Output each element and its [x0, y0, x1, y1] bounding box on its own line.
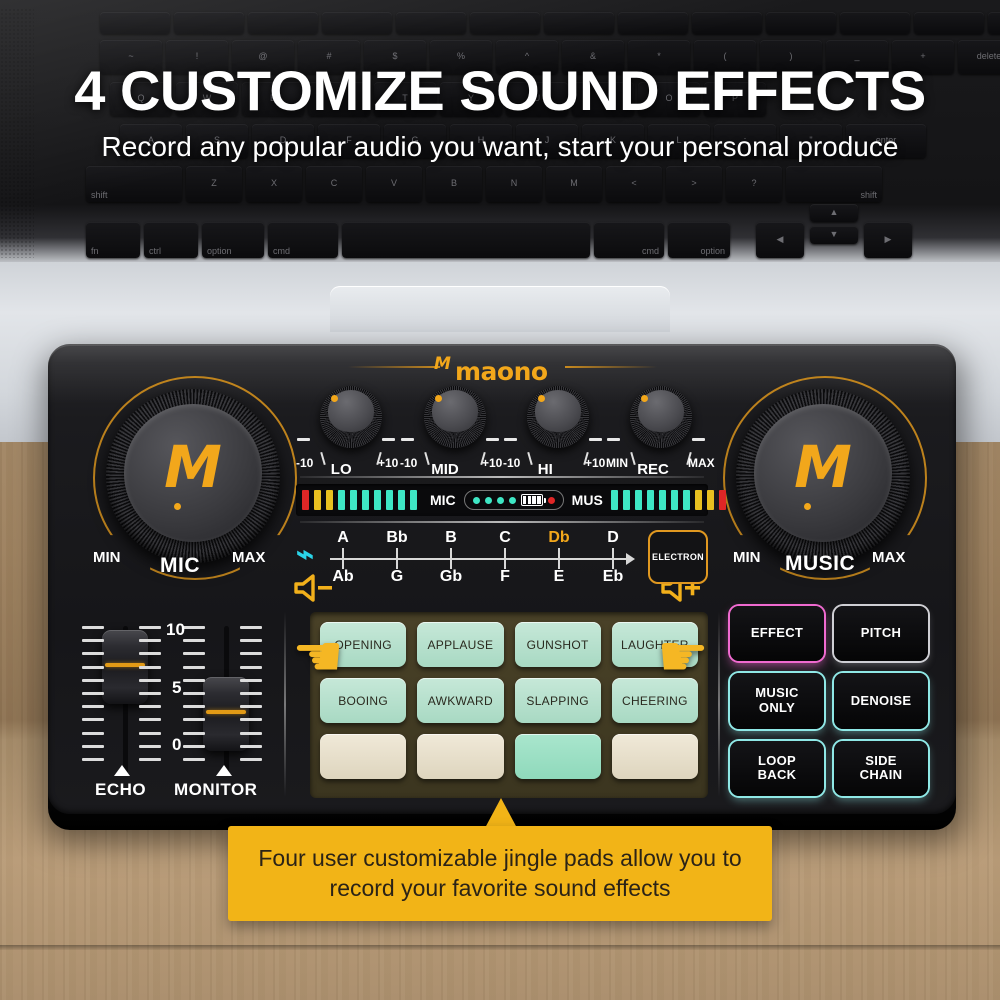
keyboard-key: V — [366, 166, 422, 202]
fader-tick — [139, 705, 161, 708]
caption-pointer-notch — [485, 798, 517, 828]
knob-range-tick — [297, 438, 310, 441]
fader-tick — [139, 639, 161, 642]
vu-segment — [623, 490, 630, 510]
keyboard-row: ▼ — [810, 226, 858, 244]
knob-range-tick — [692, 438, 705, 441]
function-button-side-chain[interactable]: SIDECHAIN — [834, 741, 928, 796]
fader-tick — [139, 666, 161, 669]
knob-range-tick — [607, 438, 620, 441]
keyboard-key: cmd — [594, 222, 664, 258]
desk-edge-line — [0, 945, 1000, 950]
knob-indicator-dot — [331, 395, 338, 402]
keyboard-key: B — [426, 166, 482, 202]
keyboard-key — [618, 12, 688, 34]
fader-tick — [82, 705, 104, 708]
echo-fader-pointer-icon — [114, 765, 130, 776]
music-knob-label: MUSIC — [785, 552, 855, 576]
keyboard-key: cmd — [268, 222, 338, 258]
note-scale-arrow-icon — [626, 553, 635, 565]
fn-label: MUSICONLY — [755, 686, 798, 715]
fader-tick — [240, 745, 262, 748]
fader-tick — [139, 732, 161, 735]
fader-tick — [82, 679, 104, 682]
keyboard-key: ▼ — [810, 226, 858, 244]
note-label-flat: E — [554, 568, 565, 586]
panel-divider-right — [718, 612, 720, 797]
note-label-flat: G — [391, 568, 403, 586]
keyboard-key: option — [202, 222, 264, 258]
fader-tick — [82, 732, 104, 735]
brand-logo: maono — [455, 357, 548, 386]
echo-fader-label: ECHO — [95, 780, 146, 800]
fader-tick — [240, 692, 262, 695]
panel-divider-top — [300, 476, 704, 478]
vu-segment — [374, 490, 381, 510]
knob-indicator-dot — [538, 395, 545, 402]
note-label-sharp: C — [499, 529, 511, 547]
keyboard-key — [396, 12, 466, 34]
knob-max-label: +10 — [378, 456, 398, 470]
keyboard-key: Z — [186, 166, 242, 202]
laptop-screen-foot — [330, 286, 670, 332]
keyboard-key — [174, 12, 244, 34]
keyboard-row: ▲ — [810, 204, 858, 222]
monitor-fader-label: MONITOR — [174, 780, 257, 800]
keyboard-key — [914, 12, 984, 34]
pointing-hand-cursor-right: ☚ — [657, 628, 709, 686]
vu-segment — [719, 490, 726, 510]
music-knob-max-label: MAX — [872, 549, 905, 566]
keyboard-key: ◀ — [756, 222, 804, 258]
music-vu-label: MUS — [572, 492, 603, 508]
pointing-hand-cursor-left: ☚ — [292, 628, 344, 686]
knob-max-label: MAX — [688, 456, 715, 470]
maono-mark-icon: M — [434, 354, 451, 374]
fader-scale-5: 5 — [172, 678, 181, 698]
fader-tick — [183, 626, 205, 629]
monitor-fader-pointer-icon — [216, 765, 232, 776]
panel-divider-left — [284, 612, 286, 797]
keyboard-key: ▶ — [864, 222, 912, 258]
knob-range-tick — [486, 438, 499, 441]
record-indicator-dot — [548, 497, 555, 504]
fader-tick — [183, 732, 205, 735]
vu-segment — [338, 490, 345, 510]
function-button-music-only[interactable]: MUSICONLY — [730, 673, 824, 728]
fader-tick — [139, 758, 161, 761]
vu-segment — [611, 490, 618, 510]
sound-pad[interactable]: SLAPPING — [515, 678, 601, 723]
caption-line-1: Four user customizable jingle pads allow… — [248, 843, 752, 873]
vu-segment — [326, 490, 333, 510]
fn-label: LOOPBACK — [758, 754, 797, 783]
page-title: 4 CUSTOMIZE SOUND EFFECTS — [0, 58, 1000, 123]
vu-segment — [302, 490, 309, 510]
fader-tick — [183, 652, 205, 655]
fader-scale-10: 10 — [166, 620, 185, 640]
eq-knob-mid[interactable] — [424, 386, 486, 448]
fader-tick — [139, 679, 161, 682]
customizable-jingle-pad[interactable] — [612, 734, 698, 779]
customizable-jingle-pad[interactable] — [515, 734, 601, 779]
note-label-sharp: A — [337, 529, 349, 547]
keyboard-row: ◀ — [756, 222, 804, 258]
customizable-pad-row — [320, 734, 698, 779]
vu-segment — [707, 490, 714, 510]
fader-tick — [183, 692, 205, 695]
keyboard-key — [544, 12, 614, 34]
product-marketing-image: ~!@#$%^&*()_+deleteQWERTYUIOPASDFGHJKL:"… — [0, 0, 1000, 1000]
note-label-sharp: Db — [548, 529, 569, 547]
fader-tick — [240, 732, 262, 735]
music-volume-knob[interactable]: M — [723, 376, 923, 576]
sound-pad[interactable]: AWKWARD — [417, 678, 503, 723]
fader-tick — [240, 679, 262, 682]
note-label-flat: Ab — [332, 568, 353, 586]
eq-knob-rec[interactable] — [630, 386, 692, 448]
vu-meter-panel: MIC MUS — [296, 484, 708, 516]
keyboard-key — [470, 12, 540, 34]
keyboard-key — [840, 12, 910, 34]
knob-min-label: MIN — [606, 456, 628, 470]
note-tick — [612, 548, 614, 569]
fader-tick — [82, 666, 104, 669]
fader-tick — [183, 718, 205, 721]
knob-min-label: -10 — [503, 456, 520, 470]
keyboard-key: ctrl — [144, 222, 198, 258]
bluetooth-icon: ⌁ — [296, 540, 314, 570]
status-dot — [497, 497, 504, 504]
function-button-denoise[interactable]: DENOISE — [834, 673, 928, 728]
vu-segment — [362, 490, 369, 510]
keyboard-row — [100, 12, 1000, 34]
fader-tick — [139, 692, 161, 695]
fader-tick — [82, 639, 104, 642]
electron-button[interactable]: ELECTRON — [648, 530, 708, 584]
fader-tick — [82, 758, 104, 761]
vu-segment — [350, 490, 357, 510]
mic-knob-min-label: MIN — [93, 549, 121, 566]
fader-tick — [139, 652, 161, 655]
monitor-fader-handle[interactable] — [203, 677, 249, 751]
keyboard-key — [766, 12, 836, 34]
fader-tick — [82, 626, 104, 629]
eq-knob-lo[interactable] — [320, 386, 382, 448]
note-tick — [450, 548, 452, 569]
keyboard-key: X — [246, 166, 302, 202]
fader-tick — [139, 626, 161, 629]
mic-knob-max-label: MAX — [232, 549, 265, 566]
keyboard-key — [100, 12, 170, 34]
vu-segment — [398, 490, 405, 510]
battery-bar — [532, 496, 535, 504]
keyboard-key: ▲ — [810, 204, 858, 222]
mic-volume-knob[interactable]: M — [93, 376, 293, 576]
fader-tick — [139, 718, 161, 721]
keyboard-key: M — [546, 166, 602, 202]
sound-pad[interactable]: GUNSHOT — [515, 622, 601, 667]
fader-tick — [183, 666, 205, 669]
battery-bar — [528, 496, 531, 504]
fader-tick — [183, 758, 205, 761]
keyboard-key: ? — [726, 166, 782, 202]
fader-tick — [240, 705, 262, 708]
music-knob-min-label: MIN — [733, 549, 761, 566]
knob-max-label: +10 — [585, 456, 605, 470]
keyboard-row: shiftZXCVBNM<>?shift — [86, 166, 882, 202]
knob-max-label: +10 — [482, 456, 502, 470]
music-knob-indicator-dot — [804, 503, 811, 510]
knob-range-tick — [382, 438, 395, 441]
keyboard-key: C — [306, 166, 362, 202]
keyboard-key: shift — [86, 166, 182, 202]
note-tick — [396, 548, 398, 569]
keyboard-key — [342, 222, 590, 258]
fader-tick — [82, 745, 104, 748]
fader-scale-0: 0 — [172, 735, 181, 755]
fader-tick — [82, 652, 104, 655]
vu-segment — [410, 490, 417, 510]
eq-knob-hi[interactable] — [527, 386, 589, 448]
mic-knob-indicator-dot — [174, 503, 181, 510]
keyboard-key — [322, 12, 392, 34]
note-label-flat: Eb — [603, 568, 623, 586]
music-vu-bars — [611, 490, 731, 510]
keyboard-key: shift — [786, 166, 882, 202]
status-dot — [485, 497, 492, 504]
status-dot — [473, 497, 480, 504]
fader-tick — [183, 745, 205, 748]
caption-line-2: record your favorite sound effects — [248, 873, 752, 903]
sound-pad[interactable]: APPLAUSE — [417, 622, 503, 667]
mic-vu-label: MIC — [430, 492, 456, 508]
vu-segment — [671, 490, 678, 510]
keyboard-row: ▶ — [864, 222, 912, 258]
mic-vu-bars — [302, 490, 422, 510]
mic-knob-label: MIC — [160, 554, 200, 578]
music-knob-face: M — [754, 404, 892, 542]
caption-banner: Four user customizable jingle pads allow… — [228, 826, 772, 921]
fader-tick — [183, 705, 205, 708]
note-tick — [342, 548, 344, 569]
vu-segment — [386, 490, 393, 510]
knob-range-tick — [401, 438, 414, 441]
music-knob-logo-icon: M — [794, 438, 852, 496]
pitch-note-scale: AAbBbGBGbCFDbEDEb — [330, 530, 640, 586]
note-label-sharp: Bb — [386, 529, 407, 547]
keyboard-key: < — [606, 166, 662, 202]
note-label-flat: Gb — [440, 568, 462, 586]
fader-tick — [183, 639, 205, 642]
fader-tick — [240, 758, 262, 761]
mic-knob-face: M — [124, 404, 262, 542]
note-label-sharp: D — [607, 529, 619, 547]
vu-segment — [695, 490, 702, 510]
knob-range-tick — [504, 438, 517, 441]
page-subtitle: Record any popular audio you want, start… — [0, 131, 1000, 163]
logo-rule-right — [565, 366, 657, 368]
note-label-flat: F — [500, 568, 510, 586]
sound-pad-row-1: OPENINGAPPLAUSEGUNSHOTLAUGHTER — [320, 622, 698, 667]
fader-tick — [139, 745, 161, 748]
battery-bar — [523, 496, 526, 504]
panel-divider-bottom — [300, 521, 704, 523]
vu-segment — [647, 490, 654, 510]
keyboard-key: N — [486, 166, 542, 202]
fader-tick — [82, 692, 104, 695]
jingle-pad-area: OPENINGAPPLAUSEGUNSHOTLAUGHTER BOOINGAWK… — [310, 612, 708, 798]
knob-indicator-dot — [641, 395, 648, 402]
note-scale-line — [330, 558, 628, 560]
fader-tick — [240, 718, 262, 721]
function-button-grid: EFFECTPITCHMUSICONLYDENOISELOOPBACKSIDEC… — [730, 606, 928, 796]
keyboard-row: fnctrloptioncmdcmdoption — [86, 222, 730, 258]
knob-range-tick — [589, 438, 602, 441]
keyboard-key — [988, 12, 1000, 34]
note-tick — [558, 548, 560, 569]
function-button-effect[interactable]: EFFECT — [730, 606, 824, 661]
vu-segment — [635, 490, 642, 510]
vu-segment — [314, 490, 321, 510]
fader-tick — [82, 718, 104, 721]
fader-tick — [240, 626, 262, 629]
customizable-jingle-pad[interactable] — [320, 734, 406, 779]
fn-label: SIDECHAIN — [860, 754, 903, 783]
knob-indicator-dot — [435, 395, 442, 402]
logo-rule-left — [348, 366, 440, 368]
fader-tick — [240, 666, 262, 669]
status-dots — [473, 497, 516, 504]
sound-pad-row-2: BOOINGAWKWARDSLAPPINGCHEERING — [320, 678, 698, 723]
vu-segment — [683, 490, 690, 510]
keyboard-key: fn — [86, 222, 140, 258]
keyboard-key — [692, 12, 762, 34]
vu-segment — [659, 490, 666, 510]
status-indicator-group — [464, 490, 564, 510]
fader-tick — [240, 652, 262, 655]
keyboard-key — [248, 12, 318, 34]
knob-min-label: -10 — [296, 456, 313, 470]
mic-knob-logo-icon: M — [164, 438, 222, 496]
keyboard-key: option — [668, 222, 730, 258]
battery-bar — [537, 496, 540, 504]
function-button-pitch[interactable]: PITCH — [834, 606, 928, 661]
battery-icon — [521, 494, 543, 506]
status-dot — [509, 497, 516, 504]
note-tick — [504, 548, 506, 569]
customizable-jingle-pad[interactable] — [417, 734, 503, 779]
function-button-loop-back[interactable]: LOOPBACK — [730, 741, 824, 796]
keyboard-key: > — [666, 166, 722, 202]
fader-tick — [240, 639, 262, 642]
knob-min-label: -10 — [400, 456, 417, 470]
note-label-sharp: B — [445, 529, 457, 547]
fader-tick — [183, 679, 205, 682]
